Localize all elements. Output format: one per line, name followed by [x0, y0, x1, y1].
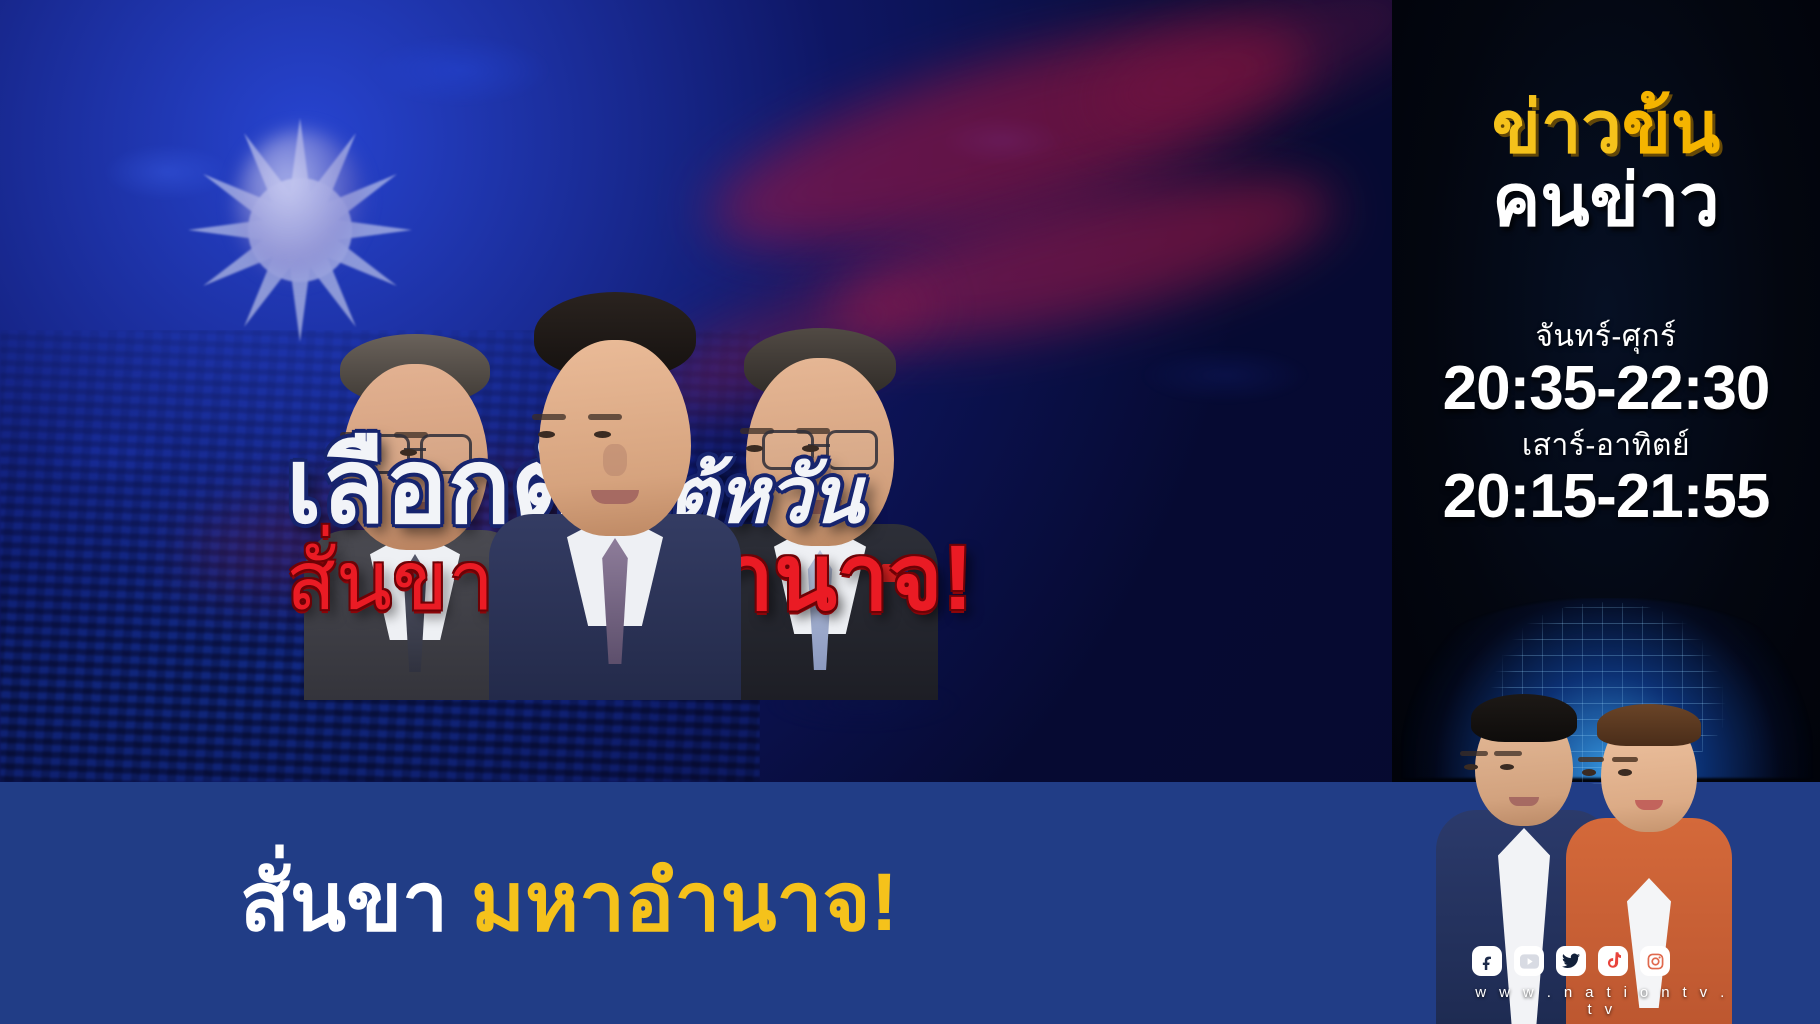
banner-text-gold: มหาอำนาจ! [471, 857, 898, 948]
broadcast-promo-graphic: เลือกตั้งไต้หวัน สั่นขามหาอำนาจ! สั่นขา … [0, 0, 1820, 1024]
logo-line-1: ข่าวข้น [1392, 92, 1820, 165]
banner-text-white: สั่นขา [240, 857, 448, 948]
mouth [1509, 797, 1539, 806]
website-url[interactable]: w w w . n a t i o n t v . t v [1472, 984, 1732, 1018]
weekday-time: 20:35-22:30 [1392, 356, 1820, 421]
weekday-label: จันทร์-ศุกร์ [1392, 318, 1820, 356]
youtube-icon[interactable] [1514, 946, 1544, 976]
logo-word-2: ข้น [1622, 88, 1720, 168]
logo-word-1: ข่าว [1492, 88, 1622, 168]
weekend-label: เสาร์-อาทิตย์ [1392, 427, 1820, 465]
candidate-center [500, 180, 730, 700]
instagram-icon[interactable] [1640, 946, 1670, 976]
anchor-female [1560, 704, 1738, 1024]
mouth [591, 490, 639, 504]
schedule-block: จันทร์-ศุกร์ 20:35-22:30 เสาร์-อาทิตย์ 2… [1392, 318, 1820, 529]
twitter-icon[interactable] [1556, 946, 1586, 976]
tiktok-icon[interactable] [1598, 946, 1628, 976]
hair-top [1597, 704, 1701, 746]
program-logo: ข่าวข้น คนข่าว [1392, 92, 1820, 239]
social-links[interactable] [1472, 946, 1670, 976]
face [539, 340, 691, 536]
headline-line2-light: สั่นขา [286, 536, 494, 627]
weekend-time: 20:15-21:55 [1392, 464, 1820, 529]
facebook-icon[interactable] [1472, 946, 1502, 976]
banner-headline: สั่นขา มหาอำนาจ! [240, 858, 898, 948]
logo-line-2: คนข่าว [1392, 165, 1820, 238]
